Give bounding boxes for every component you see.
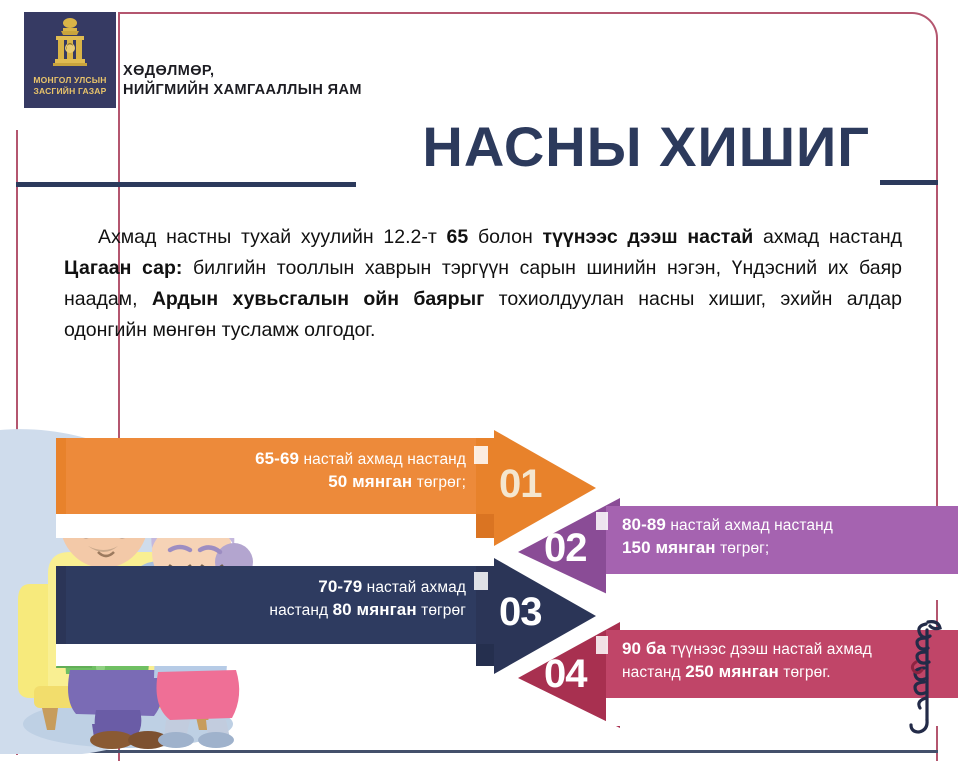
paragraph-part-3: ахмад настанд xyxy=(753,226,902,248)
title-rule-left xyxy=(16,182,356,187)
benefit-band-04[interactable]: 90 ба түүнээс дээш настай ахмад настанд … xyxy=(518,622,958,734)
paragraph-bold-revolution: Ардын хувьсгалын ойн баярыг xyxy=(152,288,484,310)
paragraph-part-2: болон xyxy=(468,226,542,248)
page-title: НАСНЫ ХИШИГ xyxy=(422,116,870,178)
benefit-text-01: 65-69 настай ахмад настанд 50 мянган төг… xyxy=(216,448,466,494)
benefit-number-04: 04 xyxy=(544,652,587,697)
benefit-text-02: 80-89 настай ахмад настанд 150 мянган тө… xyxy=(622,514,942,560)
intro-paragraph: Ахмад настны тухай хуулийн 12.2-т 65 бол… xyxy=(64,222,902,346)
benefit-band-01[interactable]: 65-69 настай ахмад настанд 50 мянган төг… xyxy=(56,430,596,550)
paragraph-part-1: Ахмад настны тухай хуулийн 12.2-т xyxy=(98,226,447,248)
paragraph-bold-older: түүнээс дээш настай xyxy=(543,226,754,248)
benefit-bands: 65-69 настай ахмад настанд 50 мянган төг… xyxy=(0,430,958,730)
ministry-name: ХӨДӨЛМӨР, НИЙГМИЙН ХАМГААЛЛЫН ЯАМ xyxy=(123,62,362,100)
benefit-text-03: 70-79 настай ахмад настанд 80 мянган төг… xyxy=(226,576,466,622)
infographic-page: МОНГОЛ УЛСЫН ЗАСГИЙН ГАЗАР ХӨДӨЛМӨР, НИЙ… xyxy=(0,0,958,761)
government-logo: МОНГОЛ УЛСЫН ЗАСГИЙН ГАЗАР xyxy=(24,12,116,108)
soyombo-emblem-icon xyxy=(43,17,97,73)
paragraph-bold-age: 65 xyxy=(447,226,469,248)
benefit-band-03[interactable]: 70-79 настай ахмад настанд 80 мянган төг… xyxy=(56,558,596,678)
mongolian-script-icon xyxy=(902,616,946,734)
logo-caption: МОНГОЛ УЛСЫН ЗАСГИЙН ГАЗАР xyxy=(33,75,106,97)
paragraph-bold-tsagaan-sar: Цагаан сар: xyxy=(64,257,182,279)
title-rule-right xyxy=(880,180,938,185)
